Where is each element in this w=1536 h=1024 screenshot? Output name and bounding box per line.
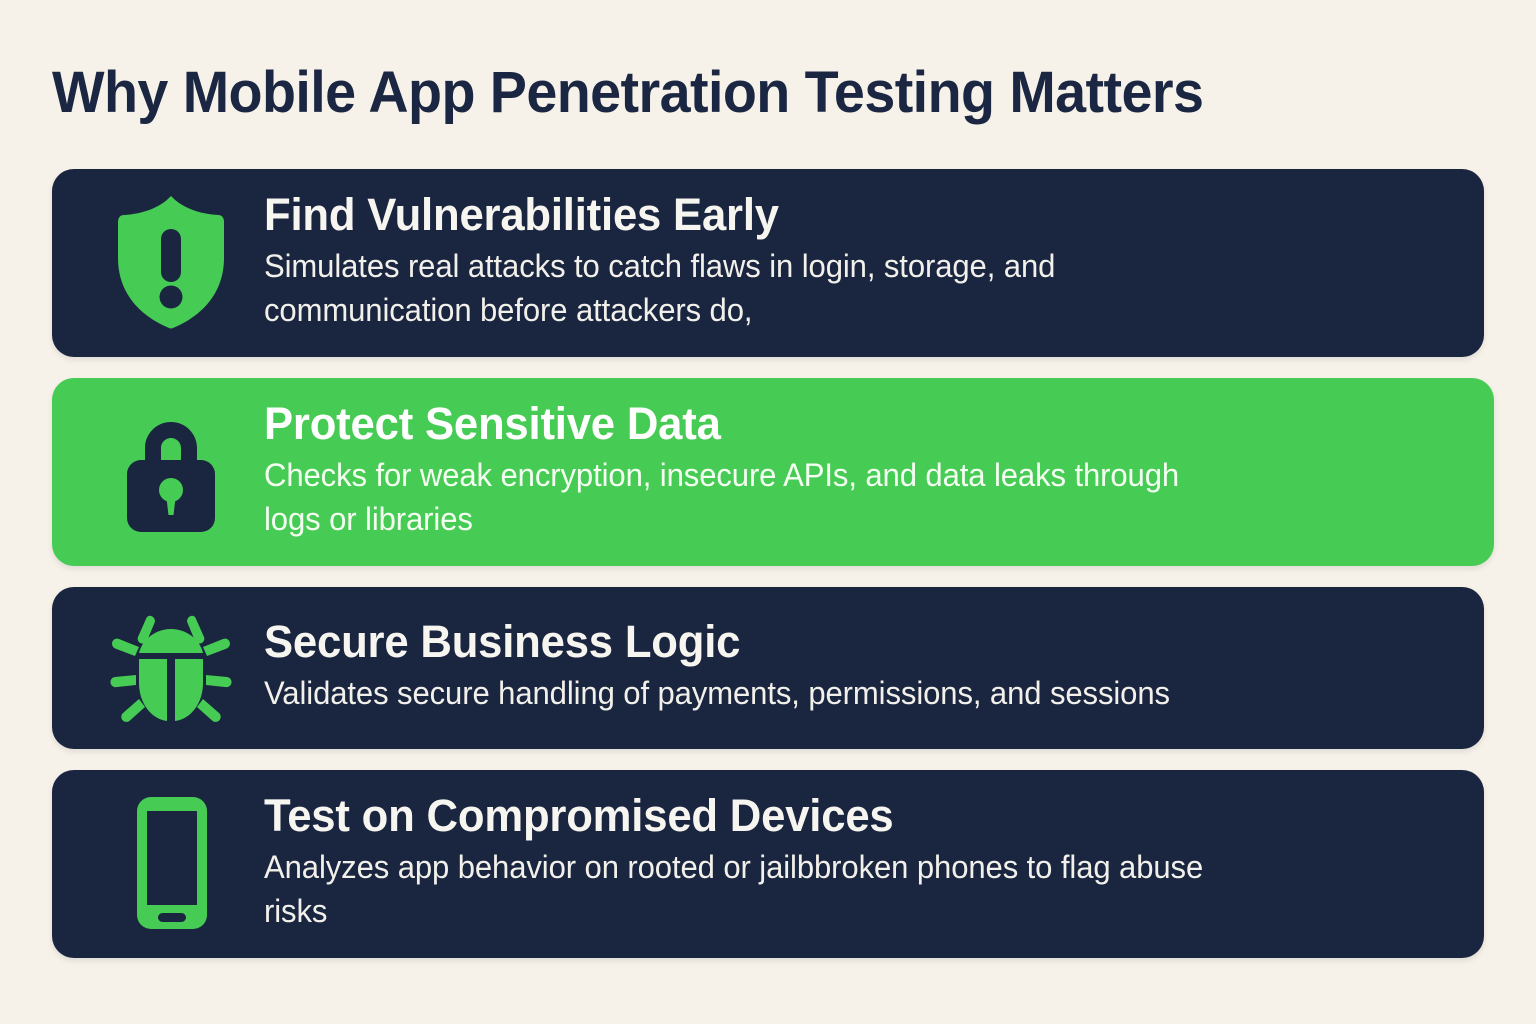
card-content: Find Vulnerabilities Early Simulates rea… bbox=[256, 191, 1450, 333]
bug-icon bbox=[86, 609, 256, 725]
card-heading: Find Vulnerabilities Early bbox=[264, 191, 1414, 239]
card-content: Protect Sensitive Data Checks for weak e… bbox=[256, 400, 1460, 542]
card-description: Simulates real attacks to catch flaws in… bbox=[264, 244, 1244, 332]
shield-alert-icon bbox=[86, 192, 256, 332]
card-description: Checks for weak encryption, insecure API… bbox=[264, 453, 1244, 541]
card-heading: Secure Business Logic bbox=[264, 618, 1414, 666]
benefit-card-compromised-devices[interactable]: Test on Compromised Devices Analyzes app… bbox=[52, 770, 1484, 958]
card-description: Validates secure handling of payments, p… bbox=[264, 671, 1414, 715]
benefit-card-list: Find Vulnerabilities Early Simulates rea… bbox=[52, 169, 1484, 958]
card-description: Analyzes app behavior on rooted or jailb… bbox=[264, 845, 1244, 933]
card-heading: Test on Compromised Devices bbox=[264, 792, 1414, 840]
card-heading: Protect Sensitive Data bbox=[264, 400, 1424, 448]
infographic-page: Why Mobile App Penetration Testing Matte… bbox=[0, 0, 1536, 1024]
card-content: Secure Business Logic Validates secure h… bbox=[256, 618, 1450, 716]
benefit-card-business-logic[interactable]: Secure Business Logic Validates secure h… bbox=[52, 587, 1484, 749]
benefit-card-protect-data[interactable]: Protect Sensitive Data Checks for weak e… bbox=[52, 378, 1494, 566]
benefit-card-find-vulnerabilities[interactable]: Find Vulnerabilities Early Simulates rea… bbox=[52, 169, 1484, 357]
lock-icon bbox=[86, 404, 256, 538]
page-title: Why Mobile App Penetration Testing Matte… bbox=[52, 0, 1427, 125]
mobile-phone-icon bbox=[86, 793, 256, 933]
card-content: Test on Compromised Devices Analyzes app… bbox=[256, 792, 1450, 934]
